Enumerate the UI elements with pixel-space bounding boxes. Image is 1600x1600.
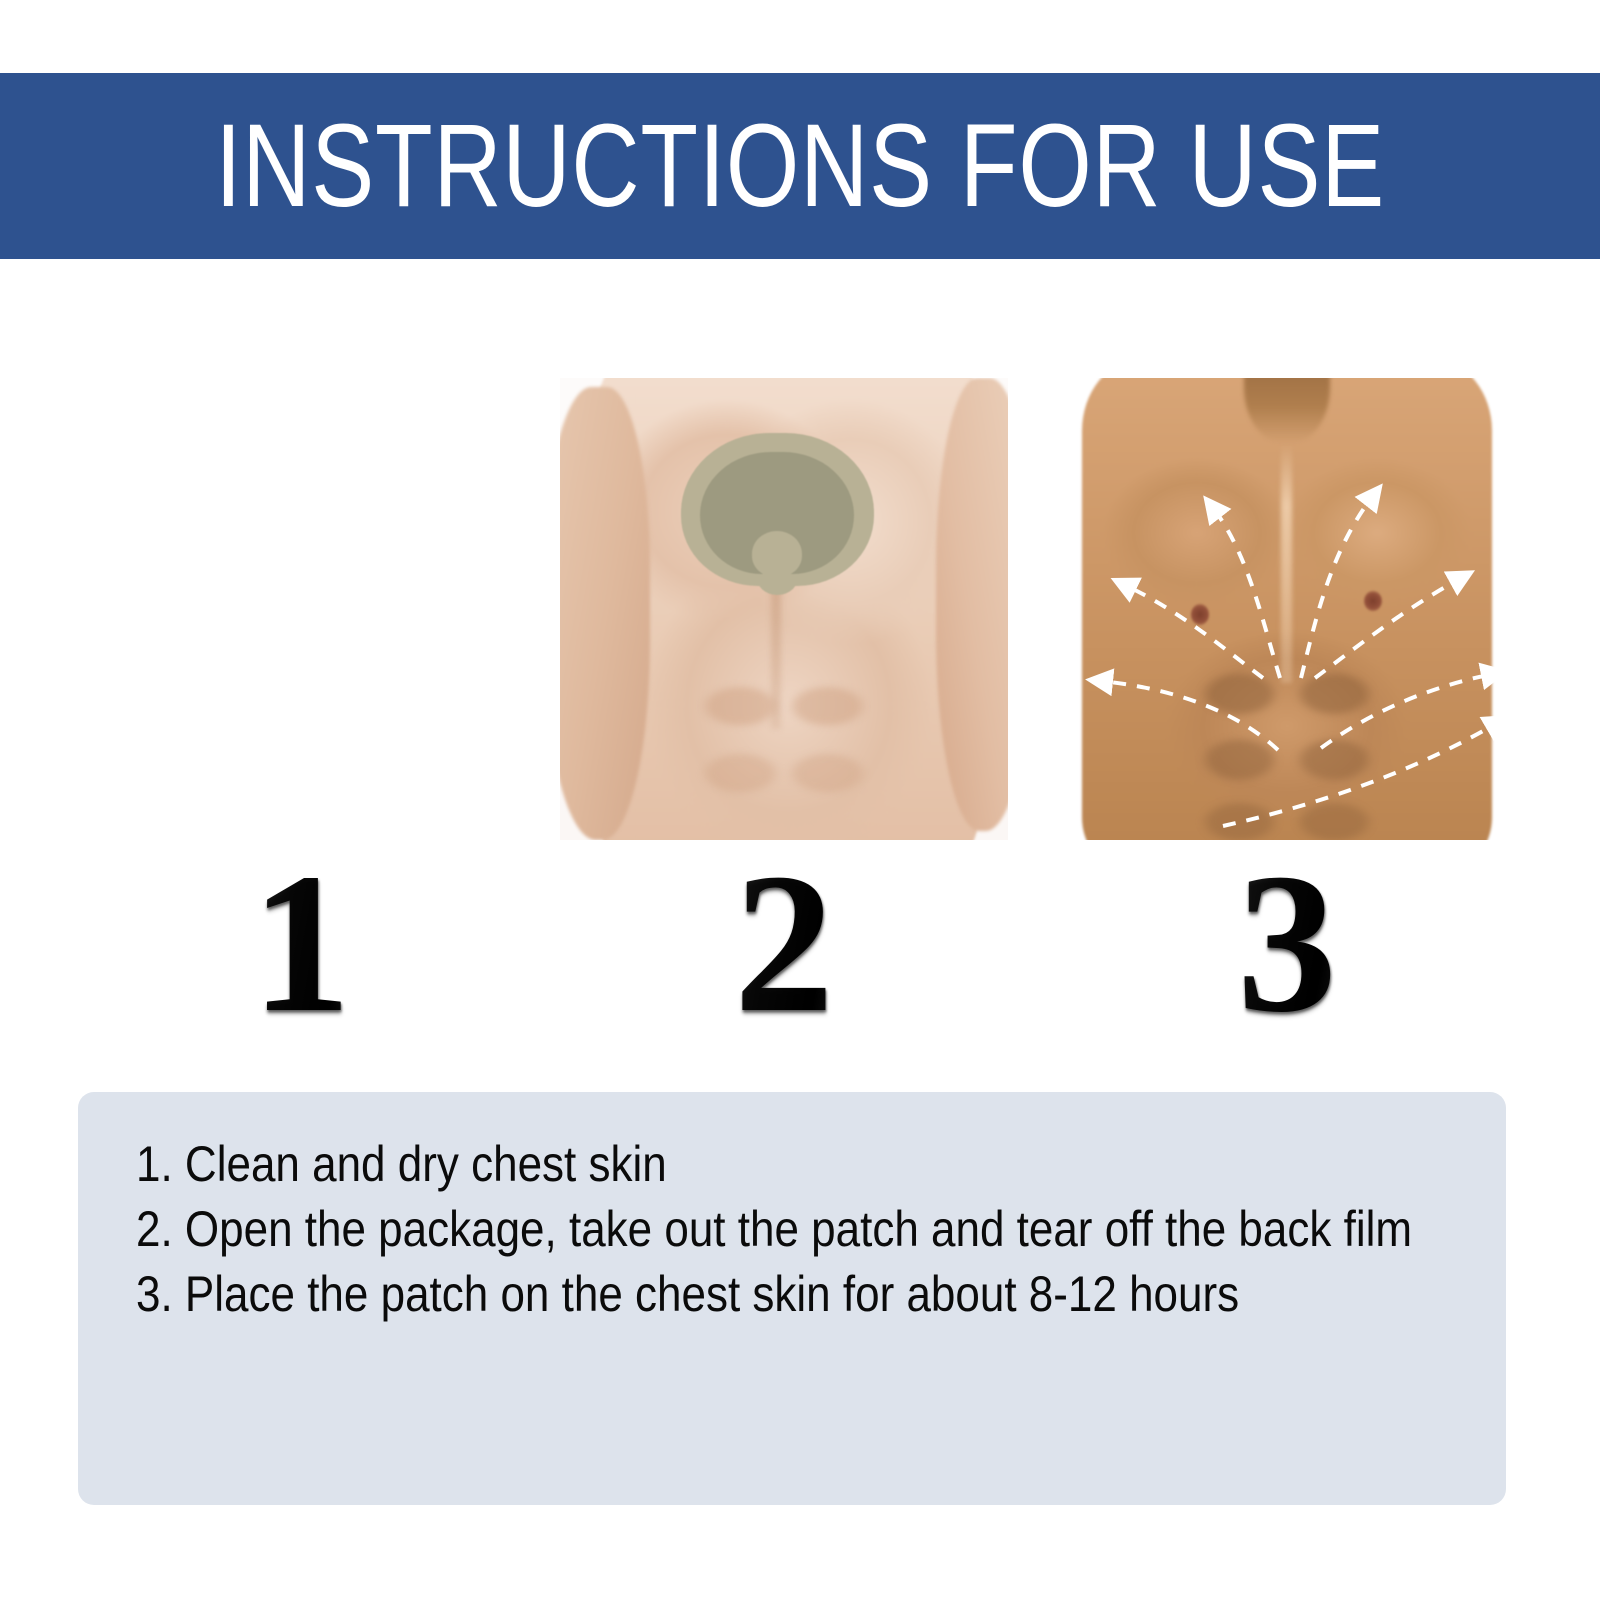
arrow-right-mid	[1315, 578, 1461, 678]
arrow-left-mid	[1125, 585, 1263, 678]
page-title: INSTRUCTIONS FOR USE	[215, 107, 1385, 225]
instruction-item-2: 2. Open the package, take out the patch …	[136, 1197, 1445, 1262]
arrow-right-upper	[1301, 496, 1373, 678]
header-banner: INSTRUCTIONS FOR USE	[0, 73, 1600, 259]
step-3: 3	[1073, 378, 1501, 1046]
steps-row: 1 2	[0, 378, 1600, 1008]
absorption-arrows-overlay	[1073, 378, 1501, 840]
step-1: 1	[77, 378, 525, 1046]
arrow-left-upper	[1213, 508, 1280, 678]
instruction-item-1: 1. Clean and dry chest skin	[136, 1132, 1445, 1197]
arrow-right-lower	[1321, 674, 1493, 748]
chest-patch-notch	[752, 531, 802, 577]
arrow-left-lower	[1101, 681, 1278, 750]
water-droplets	[77, 378, 525, 840]
arrow-bottom-arc	[1223, 723, 1497, 826]
instructions-box: 1. Clean and dry chest skin 2. Open the …	[78, 1092, 1506, 1505]
torso-left-arm	[560, 387, 650, 840]
torso-right-arm	[936, 378, 1008, 831]
step-number-2: 2	[560, 842, 1008, 1046]
instructions-list: 1. Clean and dry chest skin 2. Open the …	[136, 1132, 1445, 1327]
step-2: 2	[560, 378, 1008, 1046]
man-showering-photo	[77, 378, 525, 840]
torso-abs-shading	[685, 664, 882, 840]
chest-patch-outer	[681, 433, 874, 585]
step-number-3: 3	[1073, 842, 1501, 1046]
step-number-1: 1	[77, 842, 525, 1046]
chest-absorption-arrows-photo	[1073, 378, 1501, 840]
torso-with-patch-photo	[560, 378, 1008, 840]
instructions-poster: INSTRUCTIONS FOR USE 1	[0, 0, 1600, 1600]
instruction-item-3: 3. Place the patch on the chest skin for…	[136, 1262, 1445, 1327]
